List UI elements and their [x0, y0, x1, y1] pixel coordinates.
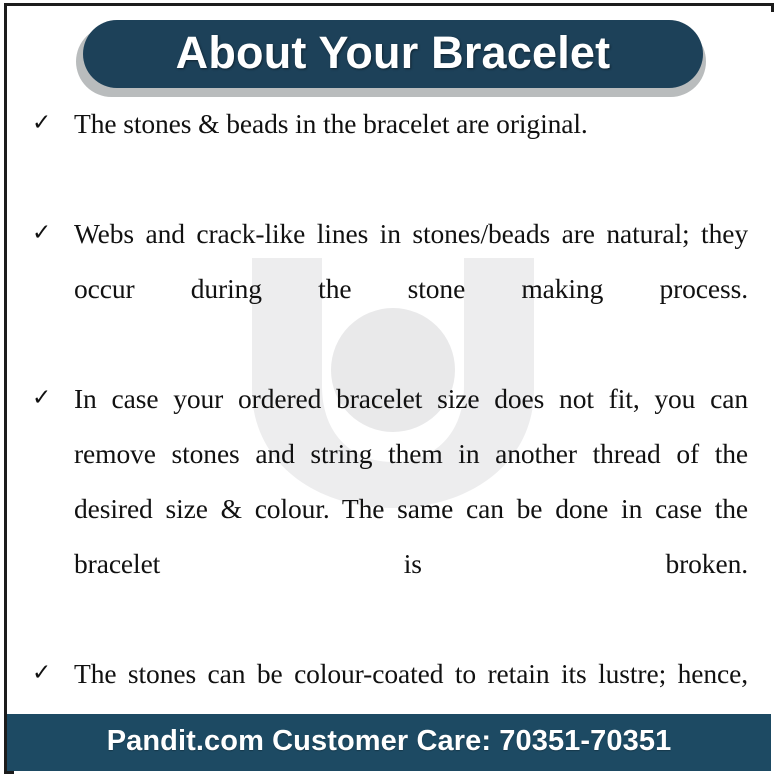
- list-item: ✓ Webs and crack-like lines in stones/be…: [0, 206, 780, 371]
- about-your-bracelet-card: About Your Bracelet ✓ The stones & beads…: [0, 0, 780, 780]
- customer-care-text: Pandit.com Customer Care: 70351-70351: [107, 727, 672, 758]
- list-item-text: Webs and crack-like lines in stones/bead…: [74, 206, 752, 371]
- page-title: About Your Bracelet: [176, 30, 611, 78]
- checkmark-icon: ✓: [24, 206, 74, 261]
- header-banner: About Your Bracelet: [0, 14, 780, 98]
- list-item: ✓ The stones & beads in the bracelet are…: [0, 96, 780, 206]
- bullet-list: ✓ The stones & beads in the bracelet are…: [0, 96, 780, 780]
- list-item-text: The stones & beads in the bracelet are o…: [74, 96, 752, 206]
- checkmark-icon: ✓: [24, 96, 74, 151]
- footer-bar: Pandit.com Customer Care: 70351-70351: [7, 714, 771, 771]
- checkmark-icon: ✓: [24, 371, 74, 426]
- list-item-text: In case your ordered bracelet size does …: [74, 371, 752, 646]
- list-item: ✓ In case your ordered bracelet size doe…: [0, 371, 780, 646]
- header-pill: About Your Bracelet: [83, 20, 703, 88]
- checkmark-icon: ✓: [24, 646, 74, 701]
